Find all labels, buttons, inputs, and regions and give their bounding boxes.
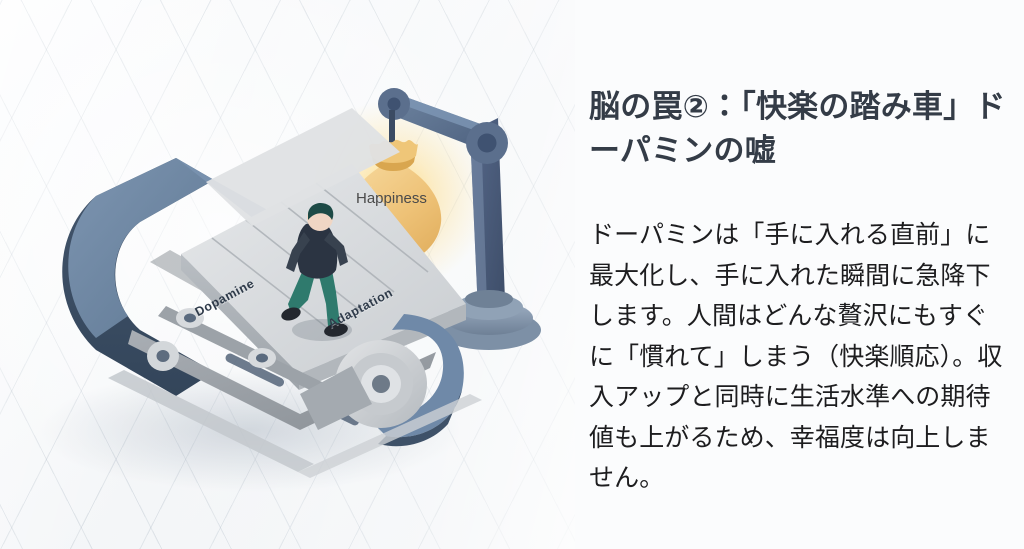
slide-root: Dopamine Adaptation Happiness 脳の罠②：「快楽の踏… [0,0,1024,549]
crane-elbow-joint-inner [478,134,497,153]
slide-title: 脳の罠②：「快楽の踏み車」ドーパミンの嘘 [589,85,1009,173]
illustration-panel: Dopamine Adaptation Happiness [0,0,575,549]
slide-body-text: ドーパミンは「手に入れる直前」に最大化し、手に入れた瞬間に急降下します。人間はど… [589,215,1013,499]
crane-base-top [465,290,513,308]
roller-hub [372,375,390,393]
left-pulley [147,341,179,371]
treadmill-illustration-svg [0,0,575,549]
happiness-bag-label: Happiness [356,190,427,207]
crane-tip-joint-inner [388,98,401,111]
text-panel: 脳の罠②：「快楽の踏み車」ドーパミンの嘘 ドーパミンは「手に入れる直前」に最大化… [575,0,1024,549]
